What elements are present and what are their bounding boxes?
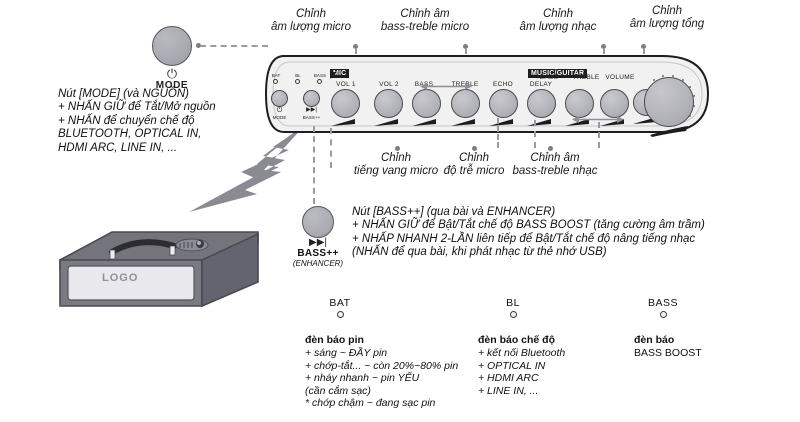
- legend-title-bat: BAT: [320, 297, 360, 309]
- callout-music-volume: Chỉnh âm lượng nhạc: [508, 8, 608, 34]
- knob-sweep-vol1-icon: [331, 118, 357, 127]
- panel-button-label-bass-plus-plus: BASS++: [296, 115, 327, 120]
- legend-heading-bat: đèn báo pin: [305, 334, 495, 347]
- knob-echo[interactable]: [489, 89, 518, 118]
- panel-button-mode[interactable]: [271, 90, 288, 107]
- leader-panel-left: [330, 128, 332, 168]
- power-icon: ⏻: [152, 67, 192, 80]
- callout-master-volume: Chỉnh âm lượng tổng: [614, 5, 720, 31]
- leader-mode: [200, 45, 268, 47]
- panel-led-bass: [317, 79, 322, 84]
- leader-music-bass-treble: [598, 122, 600, 148]
- mode-button-knob[interactable]: [152, 26, 192, 66]
- knob-sweep-mic-bass-icon: [412, 118, 438, 127]
- panel-button-label-mode: MODE: [266, 115, 293, 120]
- knob-label-volume: VOLUME: [598, 74, 642, 81]
- knob-delay[interactable]: [527, 89, 556, 118]
- legend-heading-bass: đèn báo: [634, 334, 774, 347]
- panel-led-label-bat: BAT: [265, 73, 287, 78]
- legend-title-bl: BL: [495, 297, 531, 309]
- bass-button-knob[interactable]: [302, 206, 334, 238]
- legend-title-bass: BASS: [640, 297, 686, 309]
- master-knob-sweep-icon: [650, 125, 690, 137]
- callout-mic-bass-treble: Chỉnh âm bass-treble micro: [372, 8, 478, 34]
- mic-bass-treble-link-arrow-icon: [420, 82, 472, 91]
- bass-button-label: BASS++: [292, 248, 344, 259]
- next-track-icon: ▶▶|: [300, 237, 336, 248]
- knob-sweep-delay-icon: [527, 118, 553, 127]
- knob-music-bass[interactable]: [565, 89, 594, 118]
- leader-bass-button: [313, 126, 315, 204]
- knob-label-vol1: VOL 1: [328, 81, 364, 88]
- panel-power-icon: ⏻: [271, 107, 288, 114]
- panel-led-bl: [295, 79, 300, 84]
- legend-lines-bl: + kết nối Bluetooth + OPTICAL IN + HDMI …: [478, 347, 648, 397]
- knob-sweep-vol2-icon: [374, 118, 400, 127]
- knob-sweep-mic-treble-icon: [451, 118, 477, 127]
- bass-description: Nút [BASS++] (qua bài và ENHANCER) + NHẤ…: [352, 206, 792, 260]
- bass-button-sublabel: (ENHANCER): [288, 259, 348, 268]
- knob-label-echo: ECHO: [485, 81, 521, 88]
- callout-dot-mic-delay: [472, 146, 477, 151]
- panel-button-bass-plus-plus[interactable]: [303, 90, 320, 107]
- knob-music-treble[interactable]: [600, 89, 629, 118]
- callout-music-bass-treble: Chỉnh âm bass-treble nhạc: [505, 152, 605, 178]
- legend-led-bl: [510, 311, 517, 318]
- leader-delay: [534, 120, 536, 148]
- speaker-logo-icon: LOGO: [100, 268, 144, 286]
- legend-led-bat: [337, 311, 344, 318]
- knob-sweep-echo-icon: [489, 118, 515, 127]
- panel-led-label-bass: BASS: [308, 73, 332, 78]
- legend-lines-bass: BASS BOOST: [634, 347, 784, 360]
- legend-lines-bat: + sáng ~ ĐẦY pin + chớp-tắt... ~ còn 20%…: [305, 347, 505, 410]
- knob-label-delay: DELAY: [523, 81, 559, 88]
- panel-led-bat: [273, 79, 278, 84]
- svg-text:LOGO: LOGO: [102, 272, 138, 284]
- legend-led-bass: [660, 311, 667, 318]
- legend-heading-bl: đèn báo chế độ: [478, 334, 638, 347]
- callout-mic-echo: Chỉnh tiếng vang micro: [348, 152, 444, 178]
- knob-vol1[interactable]: [331, 89, 360, 118]
- knob-mic-bass[interactable]: [412, 89, 441, 118]
- callout-mic-delay: Chỉnh độ trễ micro: [432, 152, 516, 178]
- callout-mic-volume: Chỉnh âm lượng micro: [262, 8, 360, 34]
- knob-label-music-bass: BASS: [531, 74, 567, 81]
- knob-label-vol2: VOL 2: [371, 81, 407, 88]
- callout-dot-mic-echo: [395, 146, 400, 151]
- callout-dot-music-bass-treble: [548, 146, 553, 151]
- speaker-illustration: [52, 208, 267, 308]
- knob-vol2[interactable]: [374, 89, 403, 118]
- knob-mic-treble[interactable]: [451, 89, 480, 118]
- leader-echo: [497, 118, 499, 148]
- mic-badge-tail-icon: [330, 72, 338, 79]
- panel-led-label-bl: BL: [289, 73, 307, 78]
- panel-next-track-icon: ▶▶|: [303, 107, 320, 114]
